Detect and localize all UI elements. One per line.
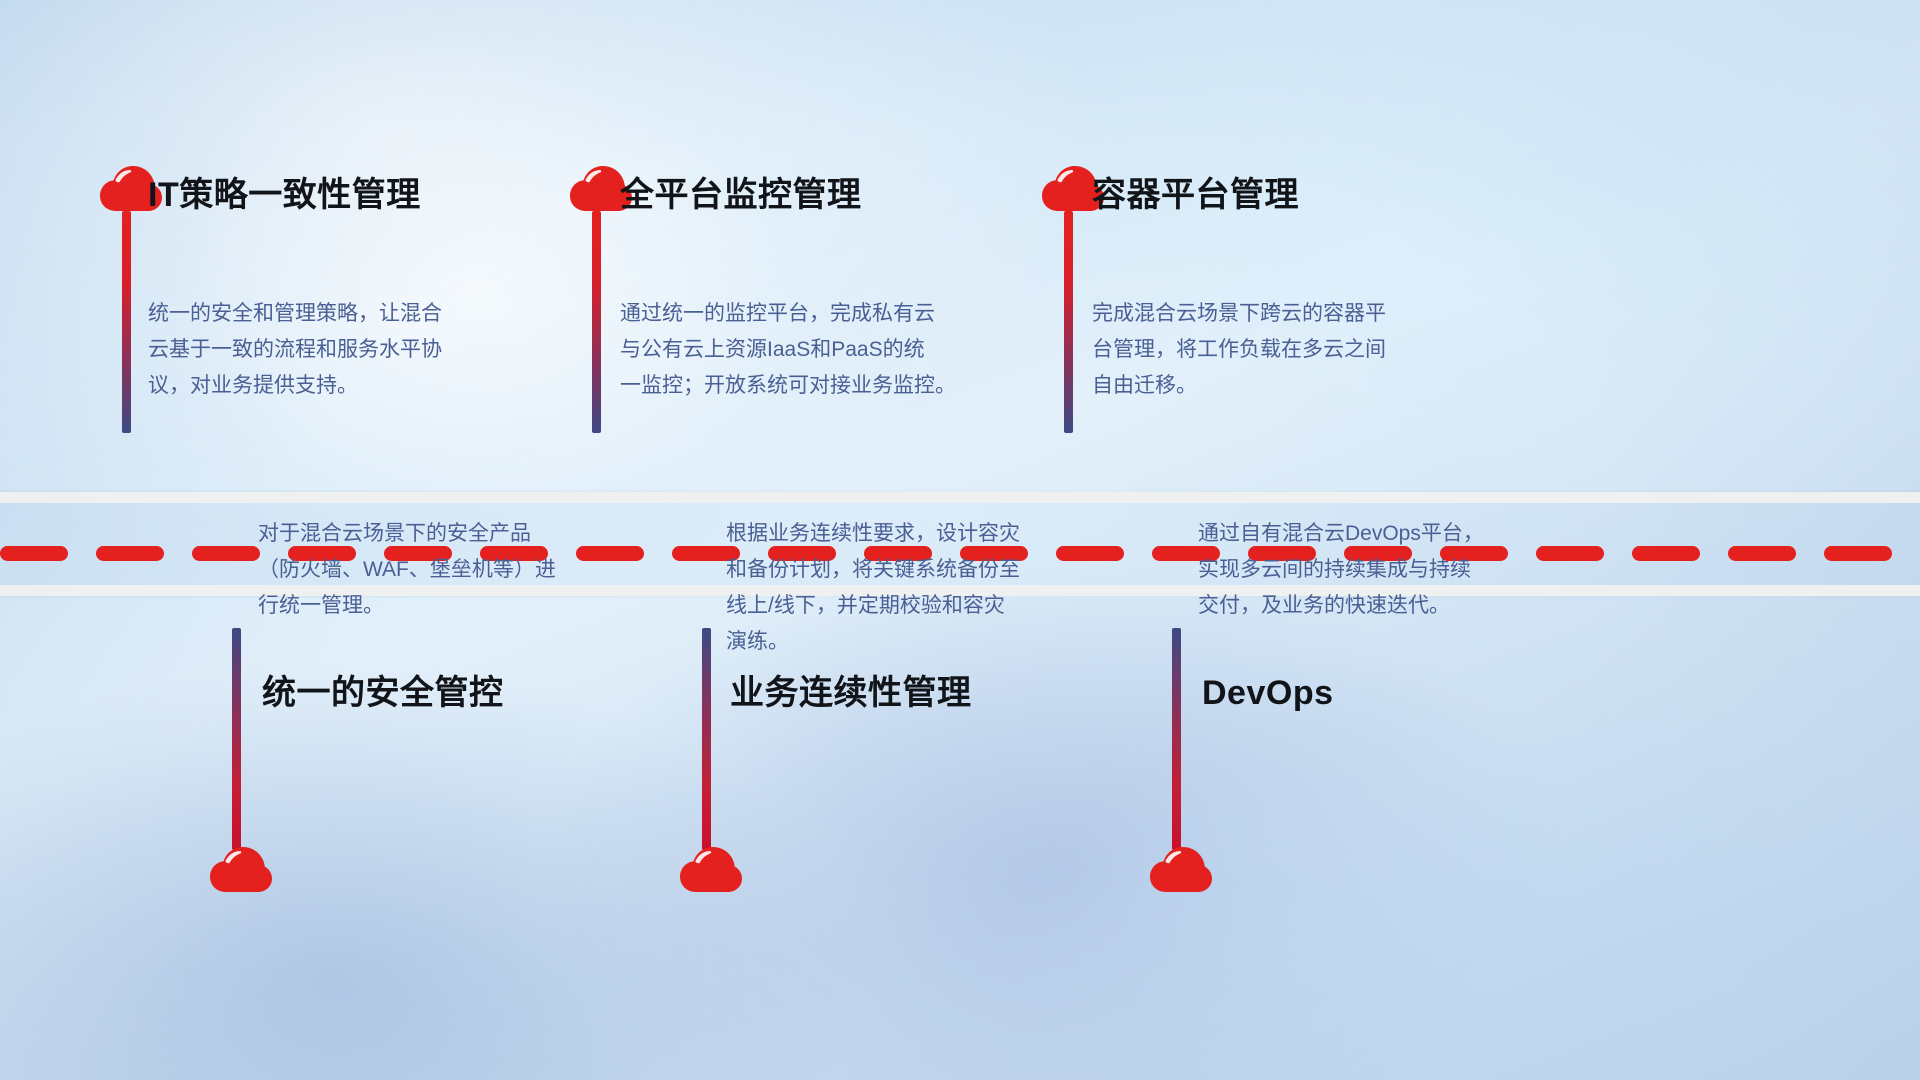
bottom-item-3-marker — [1148, 628, 1212, 896]
cloud-icon — [1148, 846, 1212, 896]
item-title: DevOps — [1202, 676, 1334, 710]
item-title: IT策略一致性管理 — [148, 178, 421, 212]
bottom-item-2-body: 根据业务连续性要求，设计容灾 和备份计划，将关键系统备份至 线上/线下，并定期校… — [726, 516, 1106, 660]
bottom-item-3-title: DevOps — [1202, 676, 1334, 710]
item-body: 通过自有混合云DevOps平台， 实现多云间的持续集成与持续 交付，及业务的快速… — [1198, 516, 1558, 624]
top-item-2-body: 通过统一的监控平台，完成私有云 与公有云上资源IaaS和PaaS的统 一监控；开… — [620, 296, 1020, 404]
bottom-item-1-title: 统一的安全管控 — [262, 676, 504, 710]
item-body: 完成混合云场景下跨云的容器平 台管理，将工作负载在多云之间 自由迁移。 — [1092, 296, 1462, 404]
bottom-item-2-title: 业务连续性管理 — [730, 676, 972, 710]
bottom-item-2-marker — [678, 628, 742, 896]
item-title: 容器平台管理 — [1092, 178, 1299, 212]
top-item-1-title: IT策略一致性管理 — [148, 178, 421, 212]
top-item-1-body: 统一的安全和管理策略，让混合 云基于一致的流程和服务水平协 议，对业务提供支持。 — [148, 296, 508, 404]
top-item-3-title: 容器平台管理 — [1092, 178, 1299, 212]
top-item-3-body: 完成混合云场景下跨云的容器平 台管理，将工作负载在多云之间 自由迁移。 — [1092, 296, 1462, 404]
item-title: 全平台监控管理 — [620, 178, 862, 212]
infographic-canvas: IT策略一致性管理 统一的安全和管理策略，让混合 云基于一致的流程和服务水平协 … — [0, 0, 1920, 1080]
road-edge-top — [0, 492, 1920, 503]
top-item-2-title: 全平台监控管理 — [620, 178, 862, 212]
road-dash — [96, 546, 164, 561]
stem-connector — [122, 211, 131, 433]
road-dash — [1728, 546, 1796, 561]
item-body: 根据业务连续性要求，设计容灾 和备份计划，将关键系统备份至 线上/线下，并定期校… — [726, 516, 1106, 660]
stem-connector — [592, 211, 601, 433]
stem-connector — [232, 628, 241, 850]
road-dash — [0, 546, 68, 561]
road-dash — [192, 546, 260, 561]
item-body: 统一的安全和管理策略，让混合 云基于一致的流程和服务水平协 议，对业务提供支持。 — [148, 296, 508, 404]
bottom-item-1-marker — [208, 628, 272, 896]
bottom-item-1-body: 对于混合云场景下的安全产品 （防火墙、WAF、堡垒机等）进 行统一管理。 — [258, 516, 618, 624]
bottom-item-3-body: 通过自有混合云DevOps平台， 实现多云间的持续集成与持续 交付，及业务的快速… — [1198, 516, 1558, 624]
stem-connector — [1172, 628, 1181, 850]
road-dash — [1824, 546, 1892, 561]
item-body: 对于混合云场景下的安全产品 （防火墙、WAF、堡垒机等）进 行统一管理。 — [258, 516, 618, 624]
road-dash — [1632, 546, 1700, 561]
item-title: 业务连续性管理 — [730, 676, 972, 710]
item-body: 通过统一的监控平台，完成私有云 与公有云上资源IaaS和PaaS的统 一监控；开… — [620, 296, 1020, 404]
item-title: 统一的安全管控 — [262, 676, 504, 710]
stem-connector — [1064, 211, 1073, 433]
cloud-icon — [678, 846, 742, 896]
stem-connector — [702, 628, 711, 850]
cloud-icon — [208, 846, 272, 896]
